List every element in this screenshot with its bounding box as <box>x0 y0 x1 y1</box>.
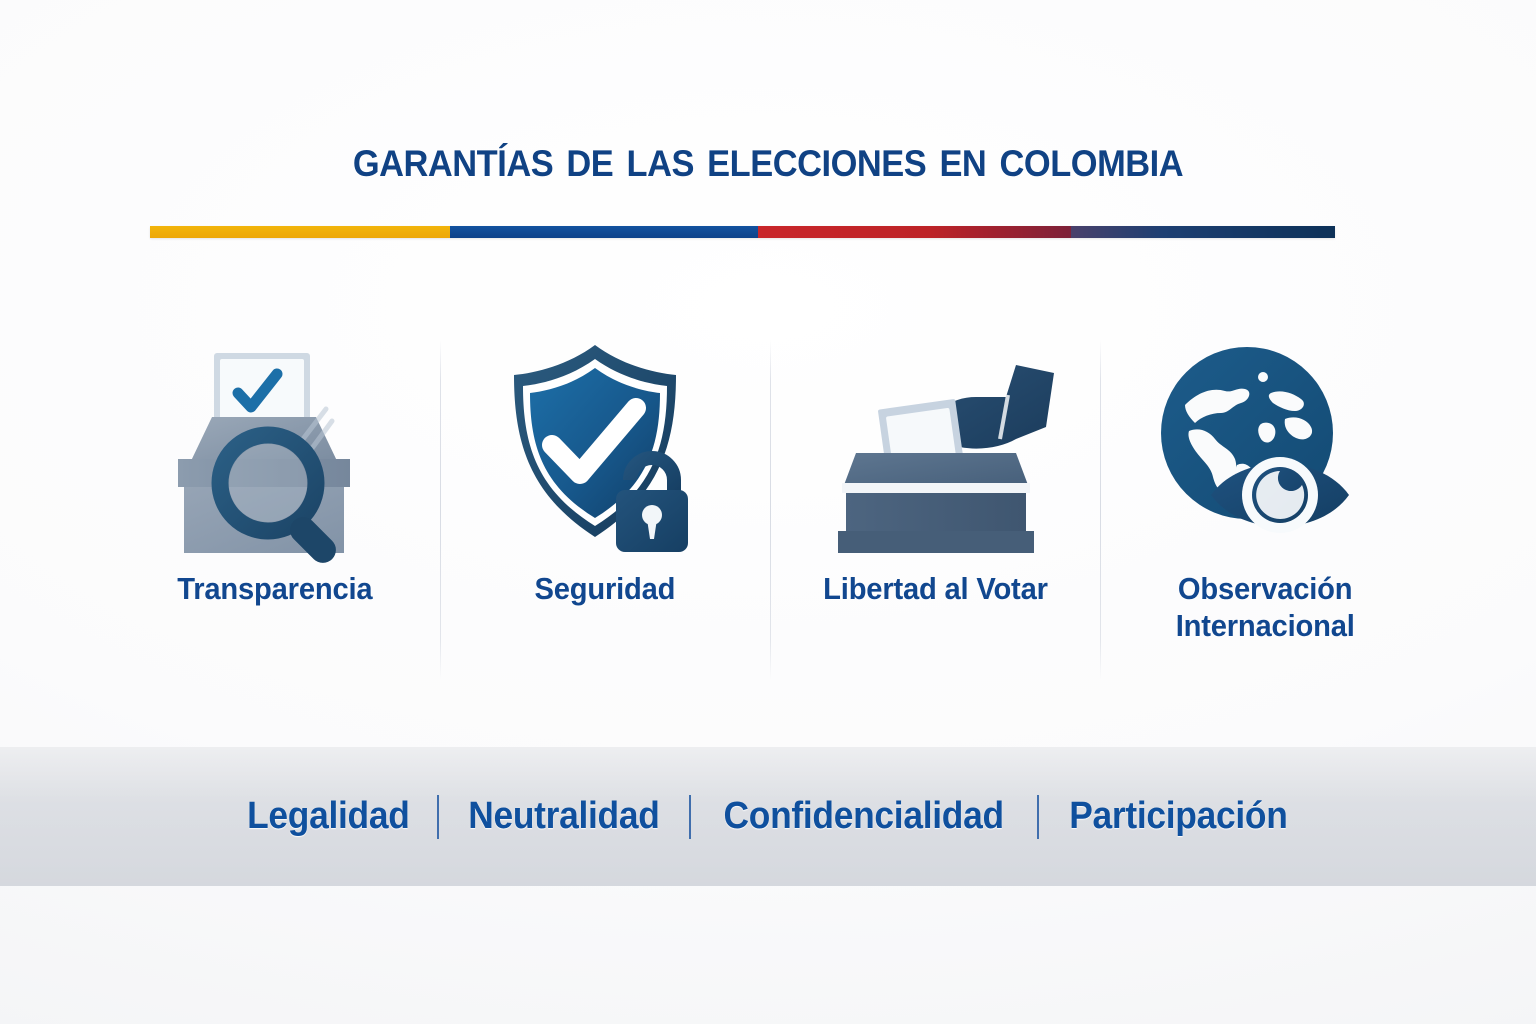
pillar-observacion-internacional: Observación Internacional <box>1100 330 1430 690</box>
accent-color-bar <box>150 226 1335 238</box>
pillar-libertad-al-votar: Libertad al Votar <box>770 330 1100 690</box>
hand-ballot-box-icon <box>810 330 1060 570</box>
accent-segment-yellow <box>150 226 450 238</box>
page-title: Garantías de las Elecciones en Colombia <box>54 128 1482 189</box>
value-word-legalidad: Legalidad <box>247 795 409 838</box>
pillars-row: Transparencia <box>110 330 1430 690</box>
pillar-transparencia: Transparencia <box>110 330 440 690</box>
pillar-label: Observación Internacional <box>1176 570 1355 644</box>
accent-segment-navy <box>1071 226 1335 238</box>
pillar-label: Libertad al Votar <box>823 570 1048 607</box>
pillar-label: Transparencia <box>177 570 372 607</box>
value-word-neutralidad: Neutralidad <box>469 795 660 838</box>
accent-segment-blue <box>450 226 758 238</box>
globe-eye-icon <box>1145 330 1385 570</box>
value-word-participacion: Participación <box>1069 795 1287 838</box>
header: Garantías de las Elecciones en Colombia <box>0 128 1536 189</box>
pillar-seguridad: Seguridad <box>440 330 770 690</box>
value-separator <box>689 795 691 839</box>
value-word-confidencialidad: Confidencialidad <box>724 795 1004 838</box>
shield-check-lock-icon <box>490 330 720 570</box>
accent-segment-red <box>758 226 1071 238</box>
value-separator <box>1037 795 1039 839</box>
pillar-label: Seguridad <box>535 570 676 607</box>
value-separator <box>437 795 439 839</box>
values-band: Legalidad Neutralidad Confidencialidad P… <box>0 747 1536 886</box>
ballot-box-magnifier-icon <box>150 330 400 570</box>
